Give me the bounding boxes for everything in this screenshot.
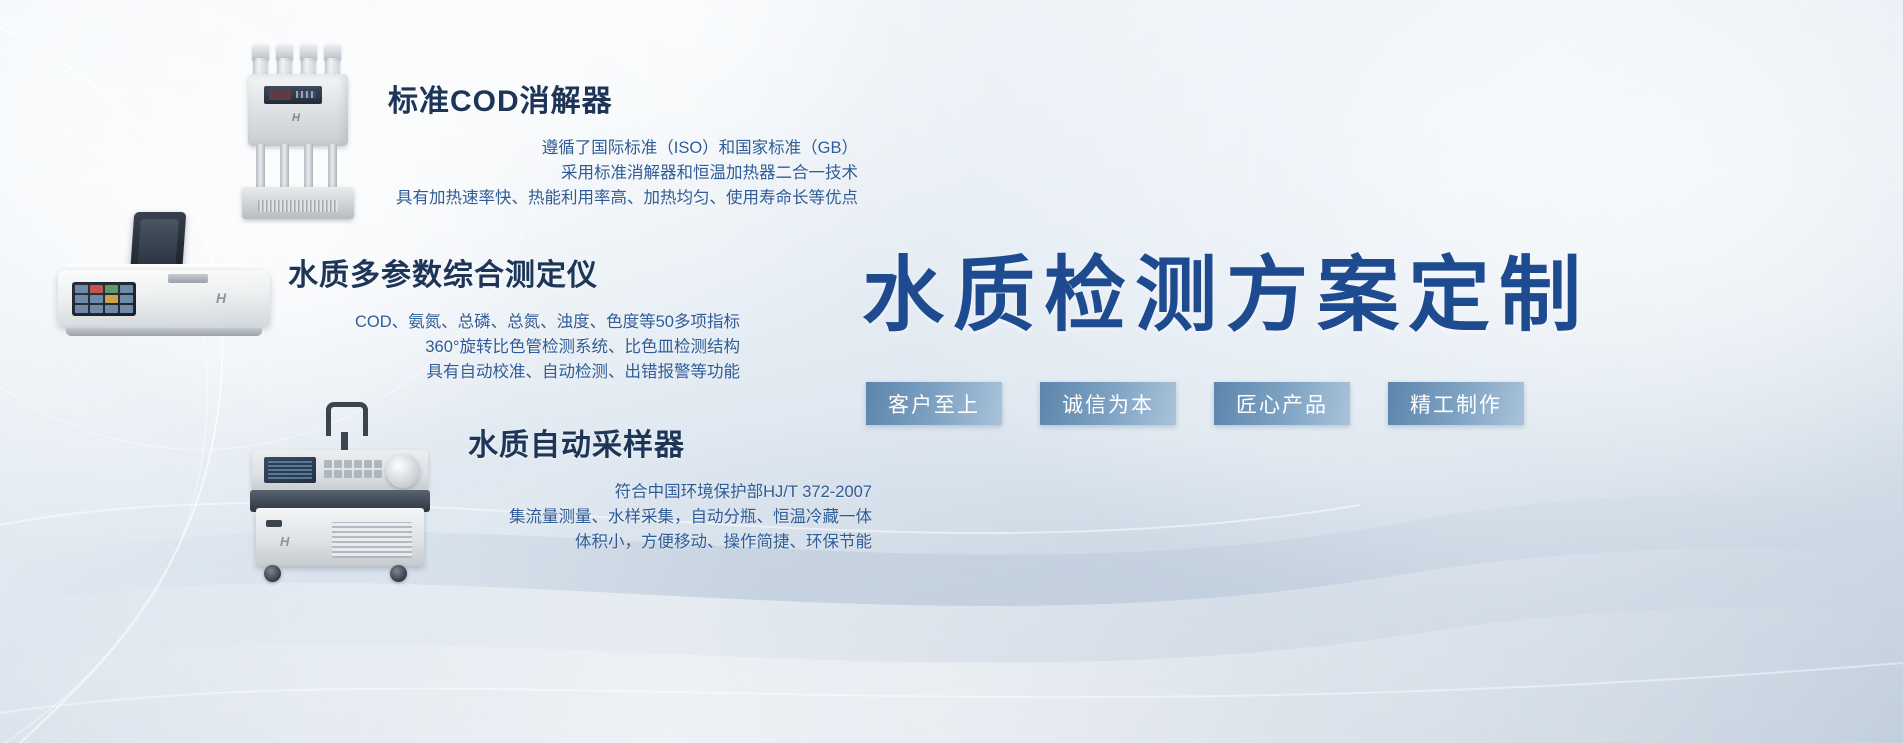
slogan-badge-craftsmanship[interactable]: 匠心产品 bbox=[1214, 382, 1350, 425]
product-description-line: 符合中国环境保护部HJ/T 372-2007 bbox=[468, 480, 872, 505]
page-title: 水质检测方案定制 bbox=[862, 228, 1590, 347]
cod-digester-icon: H bbox=[236, 44, 361, 219]
product-title: 水质多参数综合测定仪 bbox=[288, 250, 740, 294]
multiparameter-analyzer-icon: H bbox=[50, 212, 280, 342]
product-description: COD、氨氮、总磷、总氮、浊度、色度等50多项指标 360°旋转比色管检测系统、… bbox=[288, 310, 740, 385]
product-description-line: 360°旋转比色管检测系统、比色皿检测结构 bbox=[288, 335, 740, 360]
product-description-line: 集流量测量、水样采集，自动分瓶、恒温冷藏一体 bbox=[468, 505, 872, 530]
product-block-auto-sampler: 水质自动采样器 符合中国环境保护部HJ/T 372-2007 集流量测量、水样采… bbox=[468, 420, 872, 555]
product-description-line: 体积小，方便移动、操作简捷、环保节能 bbox=[468, 530, 872, 555]
slogan-badge-group: 客户至上 诚信为本 匠心产品 精工制作 bbox=[866, 382, 1524, 425]
product-description-line: 具有自动校准、自动检测、出错报警等功能 bbox=[288, 360, 740, 385]
product-block-cod-digester: 标准COD消解器 遵循了国际标准（ISO）和国家标准（GB） 采用标准消解器和恒… bbox=[388, 76, 858, 211]
product-description-line: 采用标准消解器和恒温加热器二合一技术 bbox=[388, 161, 858, 186]
slogan-badge-fine-manufacturing[interactable]: 精工制作 bbox=[1388, 382, 1524, 425]
slogan-badge-customer-first[interactable]: 客户至上 bbox=[866, 382, 1002, 425]
product-block-multiparameter-analyzer: 水质多参数综合测定仪 COD、氨氮、总磷、总氮、浊度、色度等50多项指标 360… bbox=[288, 250, 740, 385]
slogan-badge-integrity[interactable]: 诚信为本 bbox=[1040, 382, 1176, 425]
auto-sampler-icon: H bbox=[240, 402, 440, 582]
water-quality-banner: H H H 标准COD消解器 遵循 bbox=[0, 0, 1903, 743]
product-description: 符合中国环境保护部HJ/T 372-2007 集流量测量、水样采集，自动分瓶、恒… bbox=[468, 480, 872, 555]
product-title: 标准COD消解器 bbox=[388, 76, 858, 120]
product-description-line: 具有加热速率快、热能利用率高、加热均匀、使用寿命长等优点 bbox=[388, 186, 858, 211]
product-description-line: COD、氨氮、总磷、总氮、浊度、色度等50多项指标 bbox=[288, 310, 740, 335]
product-description-line: 遵循了国际标准（ISO）和国家标准（GB） bbox=[388, 136, 858, 161]
product-description: 遵循了国际标准（ISO）和国家标准（GB） 采用标准消解器和恒温加热器二合一技术… bbox=[388, 136, 858, 211]
product-title: 水质自动采样器 bbox=[468, 420, 872, 464]
